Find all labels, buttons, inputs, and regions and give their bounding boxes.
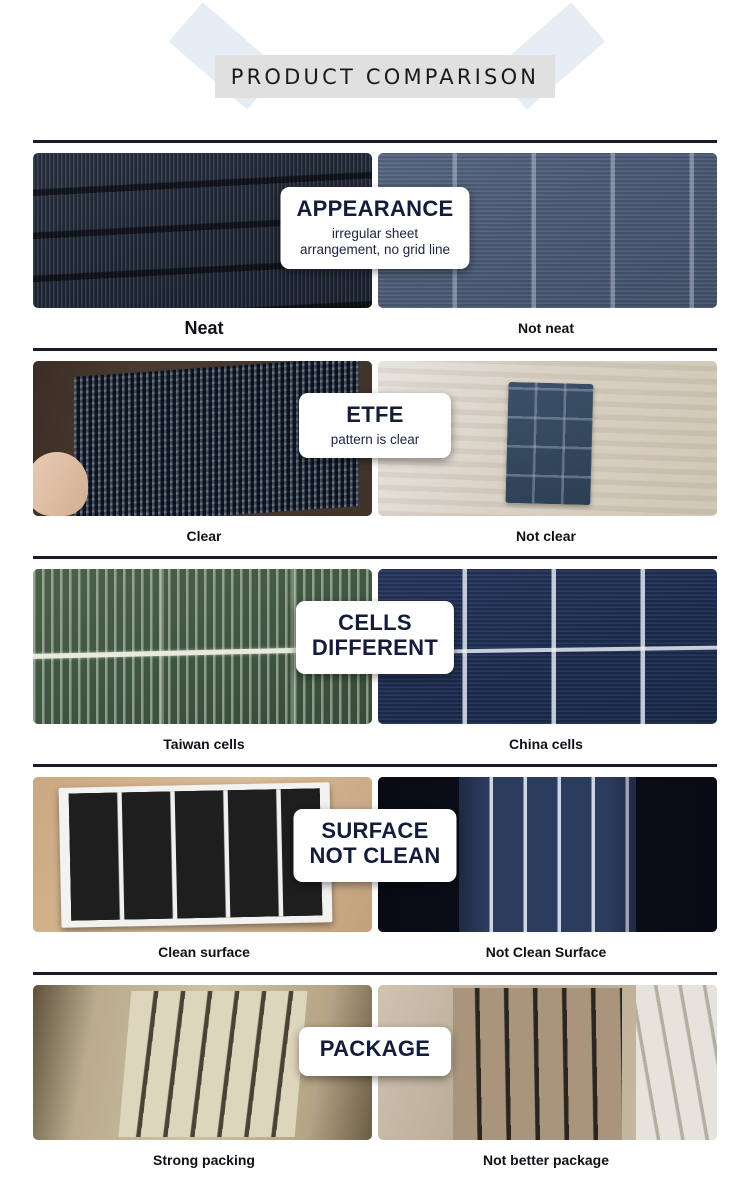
row-captions: Taiwan cells China cells xyxy=(0,724,750,764)
right-caption: China cells xyxy=(375,724,717,764)
left-caption: Clear xyxy=(33,516,375,556)
left-caption: Strong packing xyxy=(33,1140,375,1180)
row-label-card: PACKAGE xyxy=(299,1027,451,1076)
comparison-row: APPEARANCE irregular sheet arrangement, … xyxy=(0,140,750,348)
comparison-row: SURFACE NOT CLEAN Clean surface Not Clea… xyxy=(0,764,750,972)
row-label-subtitle: pattern is clear xyxy=(315,432,435,448)
row-captions: Clean surface Not Clean Surface xyxy=(0,932,750,972)
row-label-title: CELLS DIFFERENT xyxy=(312,611,438,660)
row-panes: APPEARANCE irregular sheet arrangement, … xyxy=(0,143,750,308)
row-label-title: ETFE xyxy=(315,403,435,428)
comparison-row: CELLS DIFFERENT Taiwan cells China cells xyxy=(0,556,750,764)
row-panes: PACKAGE xyxy=(0,975,750,1140)
row-captions: Neat Not neat xyxy=(0,308,750,348)
comparison-row: PACKAGE Strong packing Not better packag… xyxy=(0,972,750,1180)
comparison-rows: APPEARANCE irregular sheet arrangement, … xyxy=(0,140,750,1180)
title-banner: PRODUCT COMPARISON xyxy=(215,55,555,98)
row-captions: Strong packing Not better package xyxy=(0,1140,750,1180)
comparison-row: ETFE pattern is clear Clear Not clear xyxy=(0,348,750,556)
row-label-card: APPEARANCE irregular sheet arrangement, … xyxy=(280,187,469,269)
page-title: PRODUCT COMPARISON xyxy=(231,65,539,89)
row-panes: ETFE pattern is clear xyxy=(0,351,750,516)
right-caption: Not neat xyxy=(375,308,717,348)
left-caption: Clean surface xyxy=(33,932,375,972)
row-label-card: SURFACE NOT CLEAN xyxy=(293,809,456,882)
right-caption: Not clear xyxy=(375,516,717,556)
row-panes: CELLS DIFFERENT xyxy=(0,559,750,724)
right-caption: Not better package xyxy=(375,1140,717,1180)
page-header: PRODUCT COMPARISON xyxy=(0,0,750,140)
row-label-card: CELLS DIFFERENT xyxy=(296,601,454,674)
right-caption: Not Clean Surface xyxy=(375,932,717,972)
left-caption: Taiwan cells xyxy=(33,724,375,764)
row-label-title: PACKAGE xyxy=(315,1037,435,1062)
row-panes: SURFACE NOT CLEAN xyxy=(0,767,750,932)
row-label-card: ETFE pattern is clear xyxy=(299,393,451,458)
row-captions: Clear Not clear xyxy=(0,516,750,556)
row-label-subtitle: irregular sheet arrangement, no grid lin… xyxy=(296,226,453,259)
row-label-title: SURFACE NOT CLEAN xyxy=(309,819,440,868)
left-caption: Neat xyxy=(33,308,375,348)
row-label-title: APPEARANCE xyxy=(296,197,453,222)
